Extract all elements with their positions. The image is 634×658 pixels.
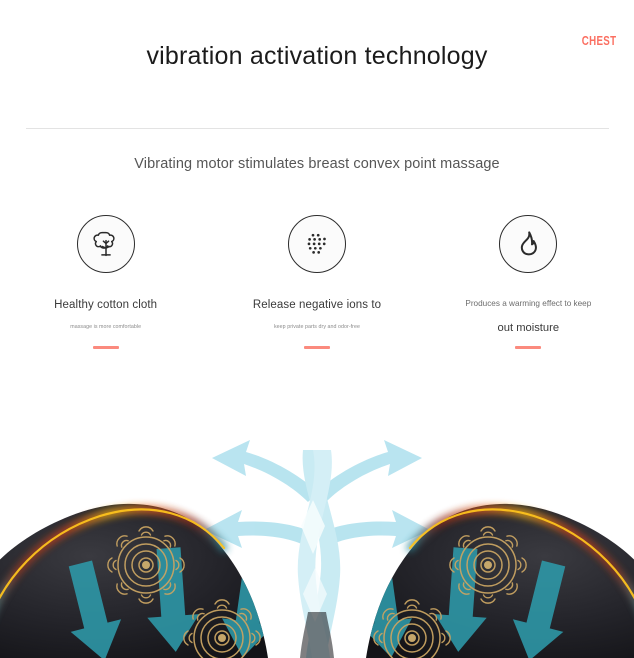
feature-small-top-label: Produces a warming effect to keep: [465, 298, 591, 310]
feature-item-negative-ions: Release negative ions to keep private pa…: [211, 215, 422, 349]
header-divider: [26, 128, 609, 129]
feature-item-warming: Produces a warming effect to keep out mo…: [423, 215, 634, 349]
page-title: vibration activation technology: [0, 40, 634, 72]
feature-secondary-label: massage is more comfortable: [70, 323, 141, 332]
feature-primary-label: Healthy cotton cloth: [54, 298, 157, 313]
flame-icon: [499, 215, 557, 273]
left-cup-airflow-arrows: [55, 546, 283, 658]
feature-underline: [515, 346, 541, 349]
feature-primary-label: Release negative ions to: [253, 298, 381, 313]
feature-secondary-label: keep private parts dry and odor-free: [274, 323, 360, 332]
feature-list: Healthy cotton cloth massage is more com…: [0, 215, 634, 349]
feature-underline: [304, 346, 330, 349]
cotton-flower-icon: [77, 215, 135, 273]
brand-tag: CHEST: [581, 34, 616, 48]
feature-underline: [93, 346, 119, 349]
page-header: vibration activation technology CHEST: [0, 0, 634, 116]
vibration-bra-diagram: [0, 380, 634, 658]
feature-big-bottom-label: out moisture: [498, 321, 560, 336]
right-cup-airflow-arrows: [351, 546, 579, 658]
feature-item-cotton: Healthy cotton cloth massage is more com…: [0, 215, 211, 349]
product-feature-page: vibration activation technology CHEST Vi…: [0, 0, 634, 658]
subtitle: Vibrating motor stimulates breast convex…: [0, 156, 634, 172]
negative-ions-dots-icon: [288, 215, 346, 273]
